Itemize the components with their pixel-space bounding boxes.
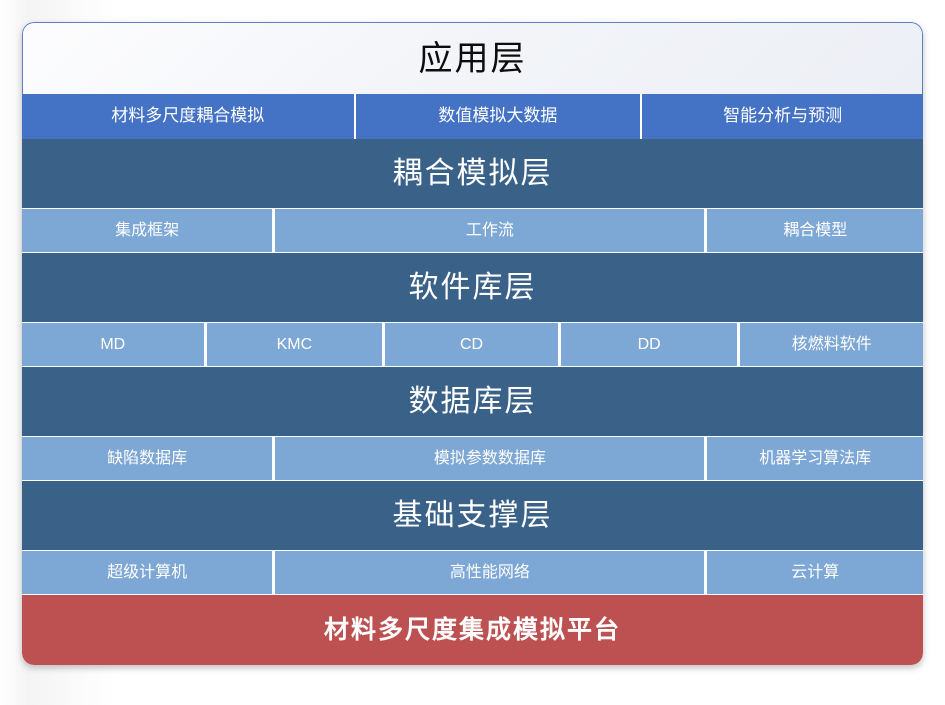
layer-3-cell-0[interactable]: 超级计算机 — [22, 551, 275, 594]
layer-items-software-library: MD KMC CD DD 核燃料软件 — [22, 322, 923, 367]
layer-2-cell-2[interactable]: 机器学习算法库 — [707, 437, 923, 480]
layer-3-cell-2[interactable]: 云计算 — [707, 551, 923, 594]
layer-band-infrastructure: 基础支撑层 — [22, 481, 923, 550]
layer-title-coupling-simulation: 耦合模拟层 — [393, 159, 553, 189]
application-cell-2[interactable]: 智能分析与预测 — [642, 94, 923, 139]
layer-band-database: 数据库层 — [22, 367, 923, 436]
layer-title-database: 数据库层 — [409, 387, 537, 417]
layer-items-coupling-simulation: 集成框架 工作流 耦合模型 — [22, 208, 923, 253]
application-cell-1[interactable]: 数值模拟大数据 — [356, 94, 643, 139]
layer-items-infrastructure: 超级计算机 高性能网络 云计算 — [22, 550, 923, 595]
application-layer-title-panel: 应用层 — [22, 22, 923, 94]
application-layer-row: 材料多尺度耦合模拟 数值模拟大数据 智能分析与预测 — [22, 94, 923, 139]
layer-0-cell-2[interactable]: 耦合模型 — [707, 209, 923, 252]
platform-bar: 材料多尺度集成模拟平台 — [22, 595, 923, 665]
layer-0-cell-1[interactable]: 工作流 — [275, 209, 707, 252]
platform-label: 材料多尺度集成模拟平台 — [324, 618, 621, 643]
layer-1-cell-1[interactable]: KMC — [207, 323, 386, 366]
layer-band-coupling-simulation: 耦合模拟层 — [22, 139, 923, 208]
layer-title-software-library: 软件库层 — [409, 273, 537, 303]
layer-1-cell-2[interactable]: CD — [385, 323, 561, 366]
layer-1-cell-3[interactable]: DD — [561, 323, 741, 366]
layer-items-database: 缺陷数据库 模拟参数数据库 机器学习算法库 — [22, 436, 923, 481]
layer-2-cell-1[interactable]: 模拟参数数据库 — [275, 437, 707, 480]
layer-2-cell-0[interactable]: 缺陷数据库 — [22, 437, 275, 480]
layer-1-cell-4[interactable]: 核燃料软件 — [740, 323, 923, 366]
layer-title-infrastructure: 基础支撑层 — [393, 501, 553, 531]
architecture-stack: 应用层 材料多尺度耦合模拟 数值模拟大数据 智能分析与预测 耦合模拟层 集成框架… — [22, 22, 923, 665]
page-title: 应用层 — [419, 42, 527, 76]
application-cell-0[interactable]: 材料多尺度耦合模拟 — [22, 94, 356, 139]
diagram-canvas: 应用层 材料多尺度耦合模拟 数值模拟大数据 智能分析与预测 耦合模拟层 集成框架… — [0, 0, 945, 705]
layer-band-software-library: 软件库层 — [22, 253, 923, 322]
layer-0-cell-0[interactable]: 集成框架 — [22, 209, 275, 252]
layer-1-cell-0[interactable]: MD — [22, 323, 207, 366]
layer-3-cell-1[interactable]: 高性能网络 — [275, 551, 707, 594]
